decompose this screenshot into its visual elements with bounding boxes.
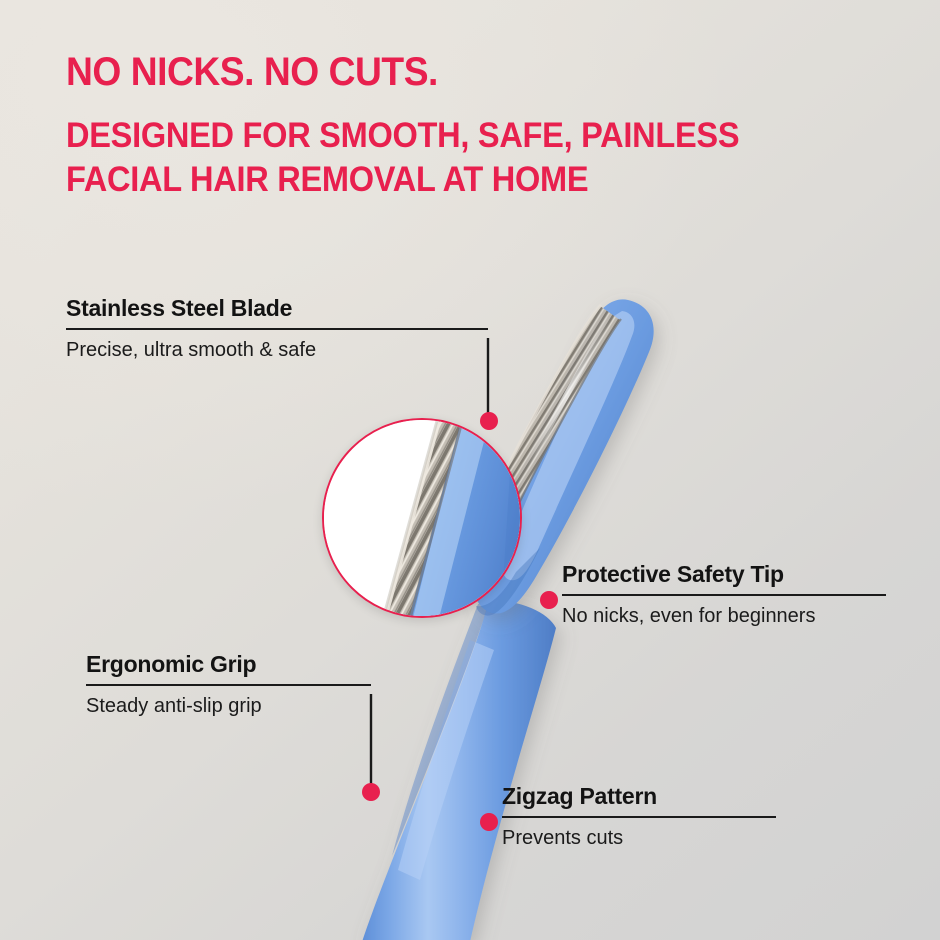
callout-protective-safety-tip: Protective Safety Tip No nicks, even for… <box>562 562 886 628</box>
callout-description: Prevents cuts <box>502 826 776 850</box>
callout-rule <box>562 594 886 596</box>
callout-title: Protective Safety Tip <box>562 562 886 587</box>
callout-title: Zigzag Pattern <box>502 784 776 809</box>
callout-zigzag-pattern: Zigzag Pattern Prevents cuts <box>502 784 776 850</box>
callout-rule <box>86 684 371 686</box>
callout-description: No nicks, even for beginners <box>562 604 886 628</box>
callout-description: Steady anti-slip grip <box>86 694 371 718</box>
callout-title: Stainless Steel Blade <box>66 296 488 321</box>
callout-rule <box>66 328 488 330</box>
headline-secondary-line-2: FACIAL HAIR REMOVAL AT HOME <box>66 158 838 203</box>
blade-zoom-inset <box>322 418 522 618</box>
headline-primary: NO NICKS. NO CUTS. <box>66 52 838 94</box>
callout-description: Precise, ultra smooth & safe <box>66 338 488 362</box>
headline-secondary: DESIGNED FOR SMOOTH, SAFE, PAINLESS FACI… <box>66 114 838 204</box>
callout-ergonomic-grip: Ergonomic Grip Steady anti-slip grip <box>86 652 371 718</box>
headline-block: NO NICKS. NO CUTS. DESIGNED FOR SMOOTH, … <box>66 52 896 203</box>
infographic-canvas: NO NICKS. NO CUTS. DESIGNED FOR SMOOTH, … <box>0 0 940 940</box>
callout-title: Ergonomic Grip <box>86 652 371 677</box>
callout-rule <box>502 816 776 818</box>
callout-stainless-steel-blade: Stainless Steel Blade Precise, ultra smo… <box>66 296 488 362</box>
headline-secondary-line-1: DESIGNED FOR SMOOTH, SAFE, PAINLESS <box>66 114 838 159</box>
